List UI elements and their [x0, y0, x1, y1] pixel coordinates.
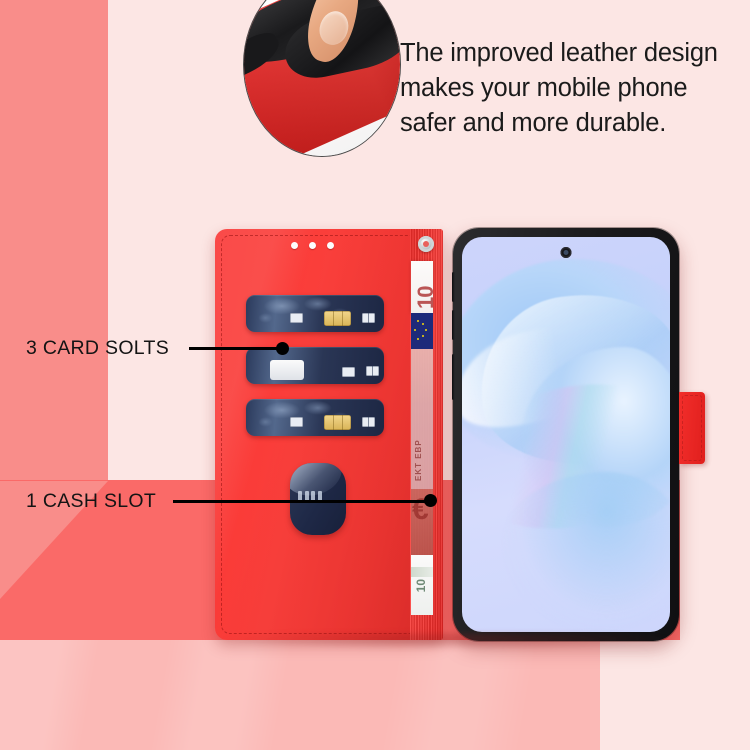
- banknote-security-strip: [411, 567, 433, 577]
- callout-endpoint-cash-slot: [424, 494, 437, 507]
- banknote-currency-glyph: 10: [413, 267, 433, 309]
- background-left-wall: [0, 0, 108, 541]
- snap-stud-2: [309, 242, 316, 249]
- card-logo-icon: [362, 313, 375, 323]
- banknote-denomination: 10: [414, 579, 428, 592]
- volume-down-button[interactable]: [452, 310, 455, 340]
- phone-device: [453, 228, 679, 641]
- wallpaper-swirl-2: [502, 472, 670, 632]
- product-drop-shadow: [222, 632, 672, 650]
- headline-text: The improved leather design makes your m…: [400, 36, 740, 141]
- card-hologram-icon: [290, 417, 303, 427]
- phone-screen: [462, 237, 670, 632]
- banknote-bank-text: EKT EBP: [414, 371, 430, 481]
- callout-endpoint-card-slots: [276, 342, 289, 355]
- card-label-patch: [270, 360, 304, 380]
- cash-slot-pocket: [290, 463, 346, 535]
- closeup-circle-frame: [243, 0, 401, 157]
- card-logo-icon: [362, 417, 375, 427]
- callout-leader-card-slots: [189, 347, 282, 350]
- snap-stud-3: [327, 242, 334, 249]
- banknote-top-segment: 10: [411, 261, 433, 313]
- callout-label-cash-slot: 1 CASH SLOT: [26, 490, 156, 513]
- banknote-bottom-segment: 10: [411, 555, 433, 615]
- background-floor-right: [600, 640, 750, 750]
- leather-flex-closeup-inset: [243, 0, 401, 157]
- card-slot-3: [246, 399, 384, 436]
- volume-up-button[interactable]: [452, 272, 455, 302]
- front-camera-icon: [561, 247, 572, 258]
- power-button[interactable]: [452, 354, 455, 400]
- banknote-eu-flag: [411, 313, 433, 349]
- card-chip-icon: [324, 415, 351, 430]
- card-slot-1: [246, 295, 384, 332]
- eu-stars-icon: [411, 313, 433, 349]
- magnetic-strap-tab: [679, 392, 705, 464]
- wallet-case-flap: 10 EKT EBP € 10: [215, 229, 443, 640]
- banknote-mid-segment: EKT EBP: [411, 349, 433, 489]
- product-infographic: The improved leather design makes your m…: [0, 0, 750, 750]
- snap-stud-1: [291, 242, 298, 249]
- card-logo-icon: [366, 366, 379, 376]
- card-hologram-icon: [290, 313, 303, 323]
- card-hologram-icon: [342, 367, 355, 377]
- card-chip-icon: [324, 311, 351, 326]
- card-slot-2: [246, 347, 384, 384]
- callout-label-card-slots: 3 CARD SOLTS: [26, 337, 169, 360]
- callout-leader-cash-slot: [173, 500, 432, 503]
- metal-eyelet-rivet: [418, 236, 434, 252]
